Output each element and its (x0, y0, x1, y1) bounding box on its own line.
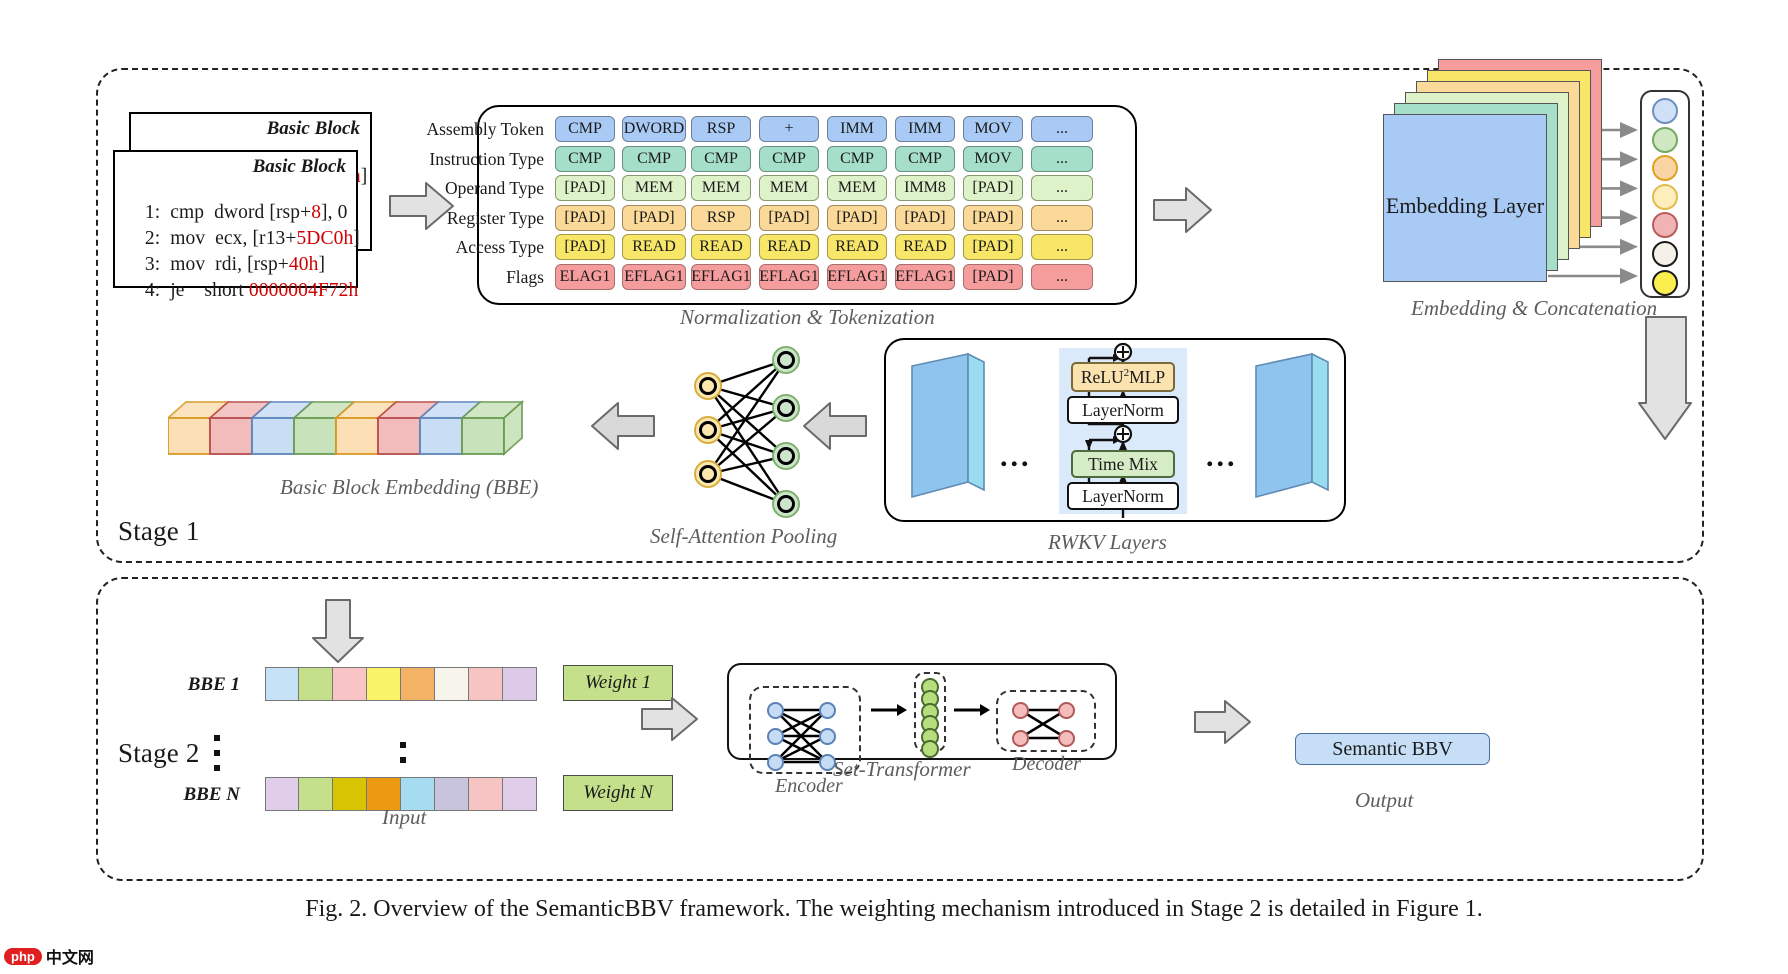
tok-cell-r0-c6: MOV (963, 116, 1023, 142)
output-caption: Output (1355, 788, 1413, 813)
bbe-seg-front-4 (336, 418, 378, 454)
tok-cell-r0-c0: CMP (555, 116, 615, 142)
instruction-type-dot (1652, 127, 1678, 153)
bbe-cell-r0-c1 (299, 667, 333, 701)
tok-cell-r5-c3: EFLAG1 (759, 264, 819, 290)
tok-cell-r0-c2: RSP (691, 116, 751, 142)
rwkv-ellipsis-right: ... (1206, 440, 1238, 474)
tok-row-label-0: Assembly Token (404, 116, 544, 142)
pooling-output-node-1-core (777, 399, 795, 417)
rwkv-caption: RWKV Layers (1048, 530, 1167, 555)
arrow-concat-to-rwkv (1583, 315, 1693, 445)
tok-cell-r5-c1: EFLAG1 (622, 264, 686, 290)
arrow-pooling-to-bbe (590, 400, 656, 452)
decoder-out-node-0 (1058, 702, 1075, 719)
flags-dot (1652, 241, 1678, 267)
tok-cell-r4-c7: ... (1031, 234, 1093, 260)
basic-block-title-back: Basic Block (267, 118, 360, 140)
arrow-rwkv-to-pooling (802, 400, 868, 452)
bbe-seg-front-0 (168, 418, 210, 454)
tok-cell-r2-c3: MEM (759, 175, 819, 201)
weight-box-1: Weight N (563, 775, 673, 811)
tok-cell-r1-c1: CMP (622, 146, 686, 172)
encoder-in-node-1 (767, 728, 784, 745)
basic-block-card-front: Basic Block 1: cmp dword [rsp+8], 0 2: m… (113, 150, 358, 288)
tok-cell-r3-c1: [PAD] (622, 205, 686, 231)
tok-row-label-4: Access Type (404, 234, 544, 260)
tok-cell-r2-c2: MEM (691, 175, 751, 201)
stage1-label: Stage 1 (118, 516, 200, 547)
rwkv-input-sheet (910, 352, 990, 510)
code-line-4: 4: je short 0000004F72h (125, 258, 358, 324)
bbe-cell-r0-c5 (435, 667, 469, 701)
bbe-cell-r1-c7 (503, 777, 537, 811)
bbe-seg-front-1 (210, 418, 252, 454)
tok-cell-r3-c2: RSP (691, 205, 751, 231)
tok-cell-r1-c6: MOV (963, 146, 1023, 172)
tok-cell-r5-c5: EFLAG1 (895, 264, 955, 290)
watermark-text: 中文网 (46, 944, 94, 968)
encoder-in-node-0 (767, 702, 784, 719)
tok-cell-r3-c6: [PAD] (963, 205, 1023, 231)
decoder-in-node-0 (1012, 702, 1029, 719)
tok-cell-r1-c2: CMP (691, 146, 751, 172)
tok-row-label-3: Register Type (404, 205, 544, 231)
tok-cell-r3-c4: [PAD] (827, 205, 887, 231)
tok-cell-r3-c3: [PAD] (759, 205, 819, 231)
bbe-cell-r0-c3 (367, 667, 401, 701)
pooling-output-node-2-core (777, 447, 795, 465)
tok-cell-r2-c6: [PAD] (963, 175, 1023, 201)
tok-cell-r4-c0: [PAD] (555, 234, 615, 260)
bbe-cell-r1-c5 (435, 777, 469, 811)
php-badge: php (4, 948, 42, 965)
stage2-label: Stage 2 (118, 738, 200, 769)
bbe-seg-front-7 (462, 418, 504, 454)
bbe-3d-svg (168, 398, 548, 468)
pooling-output-node-3-core (777, 495, 795, 513)
pooling-input-node-2-core (699, 465, 717, 483)
semantic-bbv-box: Semantic BBV (1295, 733, 1490, 765)
operand-type-dot (1652, 155, 1678, 181)
basic-block-title-front: Basic Block (253, 156, 346, 178)
pooling-input-node-0-core (699, 377, 717, 395)
decoder-in-node-1 (1012, 730, 1029, 747)
decoder-label: Decoder (1012, 753, 1081, 776)
encoder-out-node-0 (819, 702, 836, 719)
pooling-caption: Self-Attention Pooling (650, 524, 837, 549)
figure-caption: Fig. 2. Overview of the SemanticBBV fram… (0, 896, 1788, 923)
basic-block-embedding-bar (168, 398, 548, 468)
tok-cell-r2-c5: IMM8 (895, 175, 955, 201)
tok-cell-r3-c5: [PAD] (895, 205, 955, 231)
bbe-cell-r1-c0 (265, 777, 299, 811)
encoder-in-node-2 (767, 754, 784, 771)
bbe-seg-front-5 (378, 418, 420, 454)
tok-cell-r0-c7: ... (1031, 116, 1093, 142)
bbe-cell-r1-c2 (333, 777, 367, 811)
tok-cell-r3-c7: ... (1031, 205, 1093, 231)
tok-cell-r1-c3: CMP (759, 146, 819, 172)
tok-cell-r4-c6: [PAD] (963, 234, 1023, 260)
bbe-seg-front-2 (252, 418, 294, 454)
bbe-name-ellipsis (214, 735, 220, 771)
tok-cell-r2-c1: MEM (622, 175, 686, 201)
relu2-mlp-label: ReLU2MLP (1081, 367, 1165, 388)
encoder-out-node-1 (819, 728, 836, 745)
arrow-stage1-to-stage2 (310, 598, 366, 664)
tok-row-label-5: Flags (404, 264, 544, 290)
bbe-cell-r1-c1 (299, 777, 333, 811)
rwkv-ellipsis-left: ... (1000, 440, 1032, 474)
tok-cell-r1-c0: CMP (555, 146, 615, 172)
tok-cell-r5-c4: EFLAG1 (827, 264, 887, 290)
layernorm-lower-block: LayerNorm (1067, 482, 1179, 510)
tok-cell-r5-c6: [PAD] (963, 264, 1023, 290)
bbe-cell-r0-c7 (503, 667, 537, 701)
set-transformer-caption: Set-Transformer (833, 757, 971, 782)
concat-dot (1652, 270, 1678, 296)
tokenization-caption: Normalization & Tokenization (680, 305, 935, 330)
bbe-cell-r0-c0 (265, 667, 299, 701)
tok-cell-r5-c2: EFLAG1 (691, 264, 751, 290)
tok-row-label-2: Operand Type (404, 175, 544, 201)
bbe-row-strip-0 (265, 667, 537, 701)
latent-to-decoder-arrow (954, 703, 990, 717)
tok-cell-r5-c7: ... (1031, 264, 1093, 290)
watermark: php 中文网 (4, 944, 94, 968)
bbe-cell-r0-c2 (333, 667, 367, 701)
tok-cell-r0-c1: DWORD (622, 116, 686, 142)
bbe-seg-front-3 (294, 418, 336, 454)
pooling-input-node-1-core (699, 421, 717, 439)
bbe-row-name-0: BBE 1 (140, 674, 240, 696)
decoder-edges (992, 686, 1100, 756)
tok-cell-r4-c1: READ (622, 234, 686, 260)
relu2-mlp-block: ReLU2MLP (1071, 362, 1175, 392)
tok-cell-r2-c4: MEM (827, 175, 887, 201)
tok-cell-r1-c7: ... (1031, 146, 1093, 172)
arrow-settransformer-to-output (1193, 698, 1253, 746)
tok-cell-r5-c0: ELAG1 (555, 264, 615, 290)
tok-cell-r0-c5: IMM (895, 116, 955, 142)
bbe-row-name-1: BBE N (140, 784, 240, 806)
bbe-caption: Basic Block Embedding (BBE) (280, 475, 538, 500)
tok-cell-r1-c4: CMP (827, 146, 887, 172)
tok-cell-r0-c4: IMM (827, 116, 887, 142)
tok-cell-r2-c7: ... (1031, 175, 1093, 201)
bbe-cell-r0-c6 (469, 667, 503, 701)
embedding-layer-label: Embedding Layer (1383, 193, 1547, 219)
layernorm-upper-block: LayerNorm (1067, 396, 1179, 424)
tok-cell-r0-c3: + (759, 116, 819, 142)
bbe-row-ellipsis (400, 742, 406, 763)
arrow-tokenization-to-embedding (1152, 185, 1214, 235)
decoder-out-node-1 (1058, 730, 1075, 747)
tok-row-label-1: Instruction Type (404, 146, 544, 172)
time-mix-block: Time Mix (1071, 450, 1175, 478)
bbe-cell-r1-c6 (469, 777, 503, 811)
tok-cell-r1-c5: CMP (895, 146, 955, 172)
pooling-output-node-0-core (777, 351, 795, 369)
encoder-to-latent-arrow (871, 703, 907, 717)
register-type-dot (1652, 184, 1678, 210)
tok-cell-r4-c3: READ (759, 234, 819, 260)
arrow-input-to-settransformer (640, 695, 700, 743)
bbe-seg-front-6 (420, 418, 462, 454)
bbe-cell-r0-c4 (401, 667, 435, 701)
assembly-token-dot (1652, 98, 1678, 124)
tok-cell-r4-c4: READ (827, 234, 887, 260)
tok-cell-r3-c0: [PAD] (555, 205, 615, 231)
tok-cell-r4-c2: READ (691, 234, 751, 260)
stage2-input-caption: Input (382, 805, 426, 830)
rwkv-output-sheet (1254, 352, 1334, 510)
latent-node-5 (921, 740, 939, 758)
tok-cell-r2-c0: [PAD] (555, 175, 615, 201)
tok-cell-r4-c5: READ (895, 234, 955, 260)
